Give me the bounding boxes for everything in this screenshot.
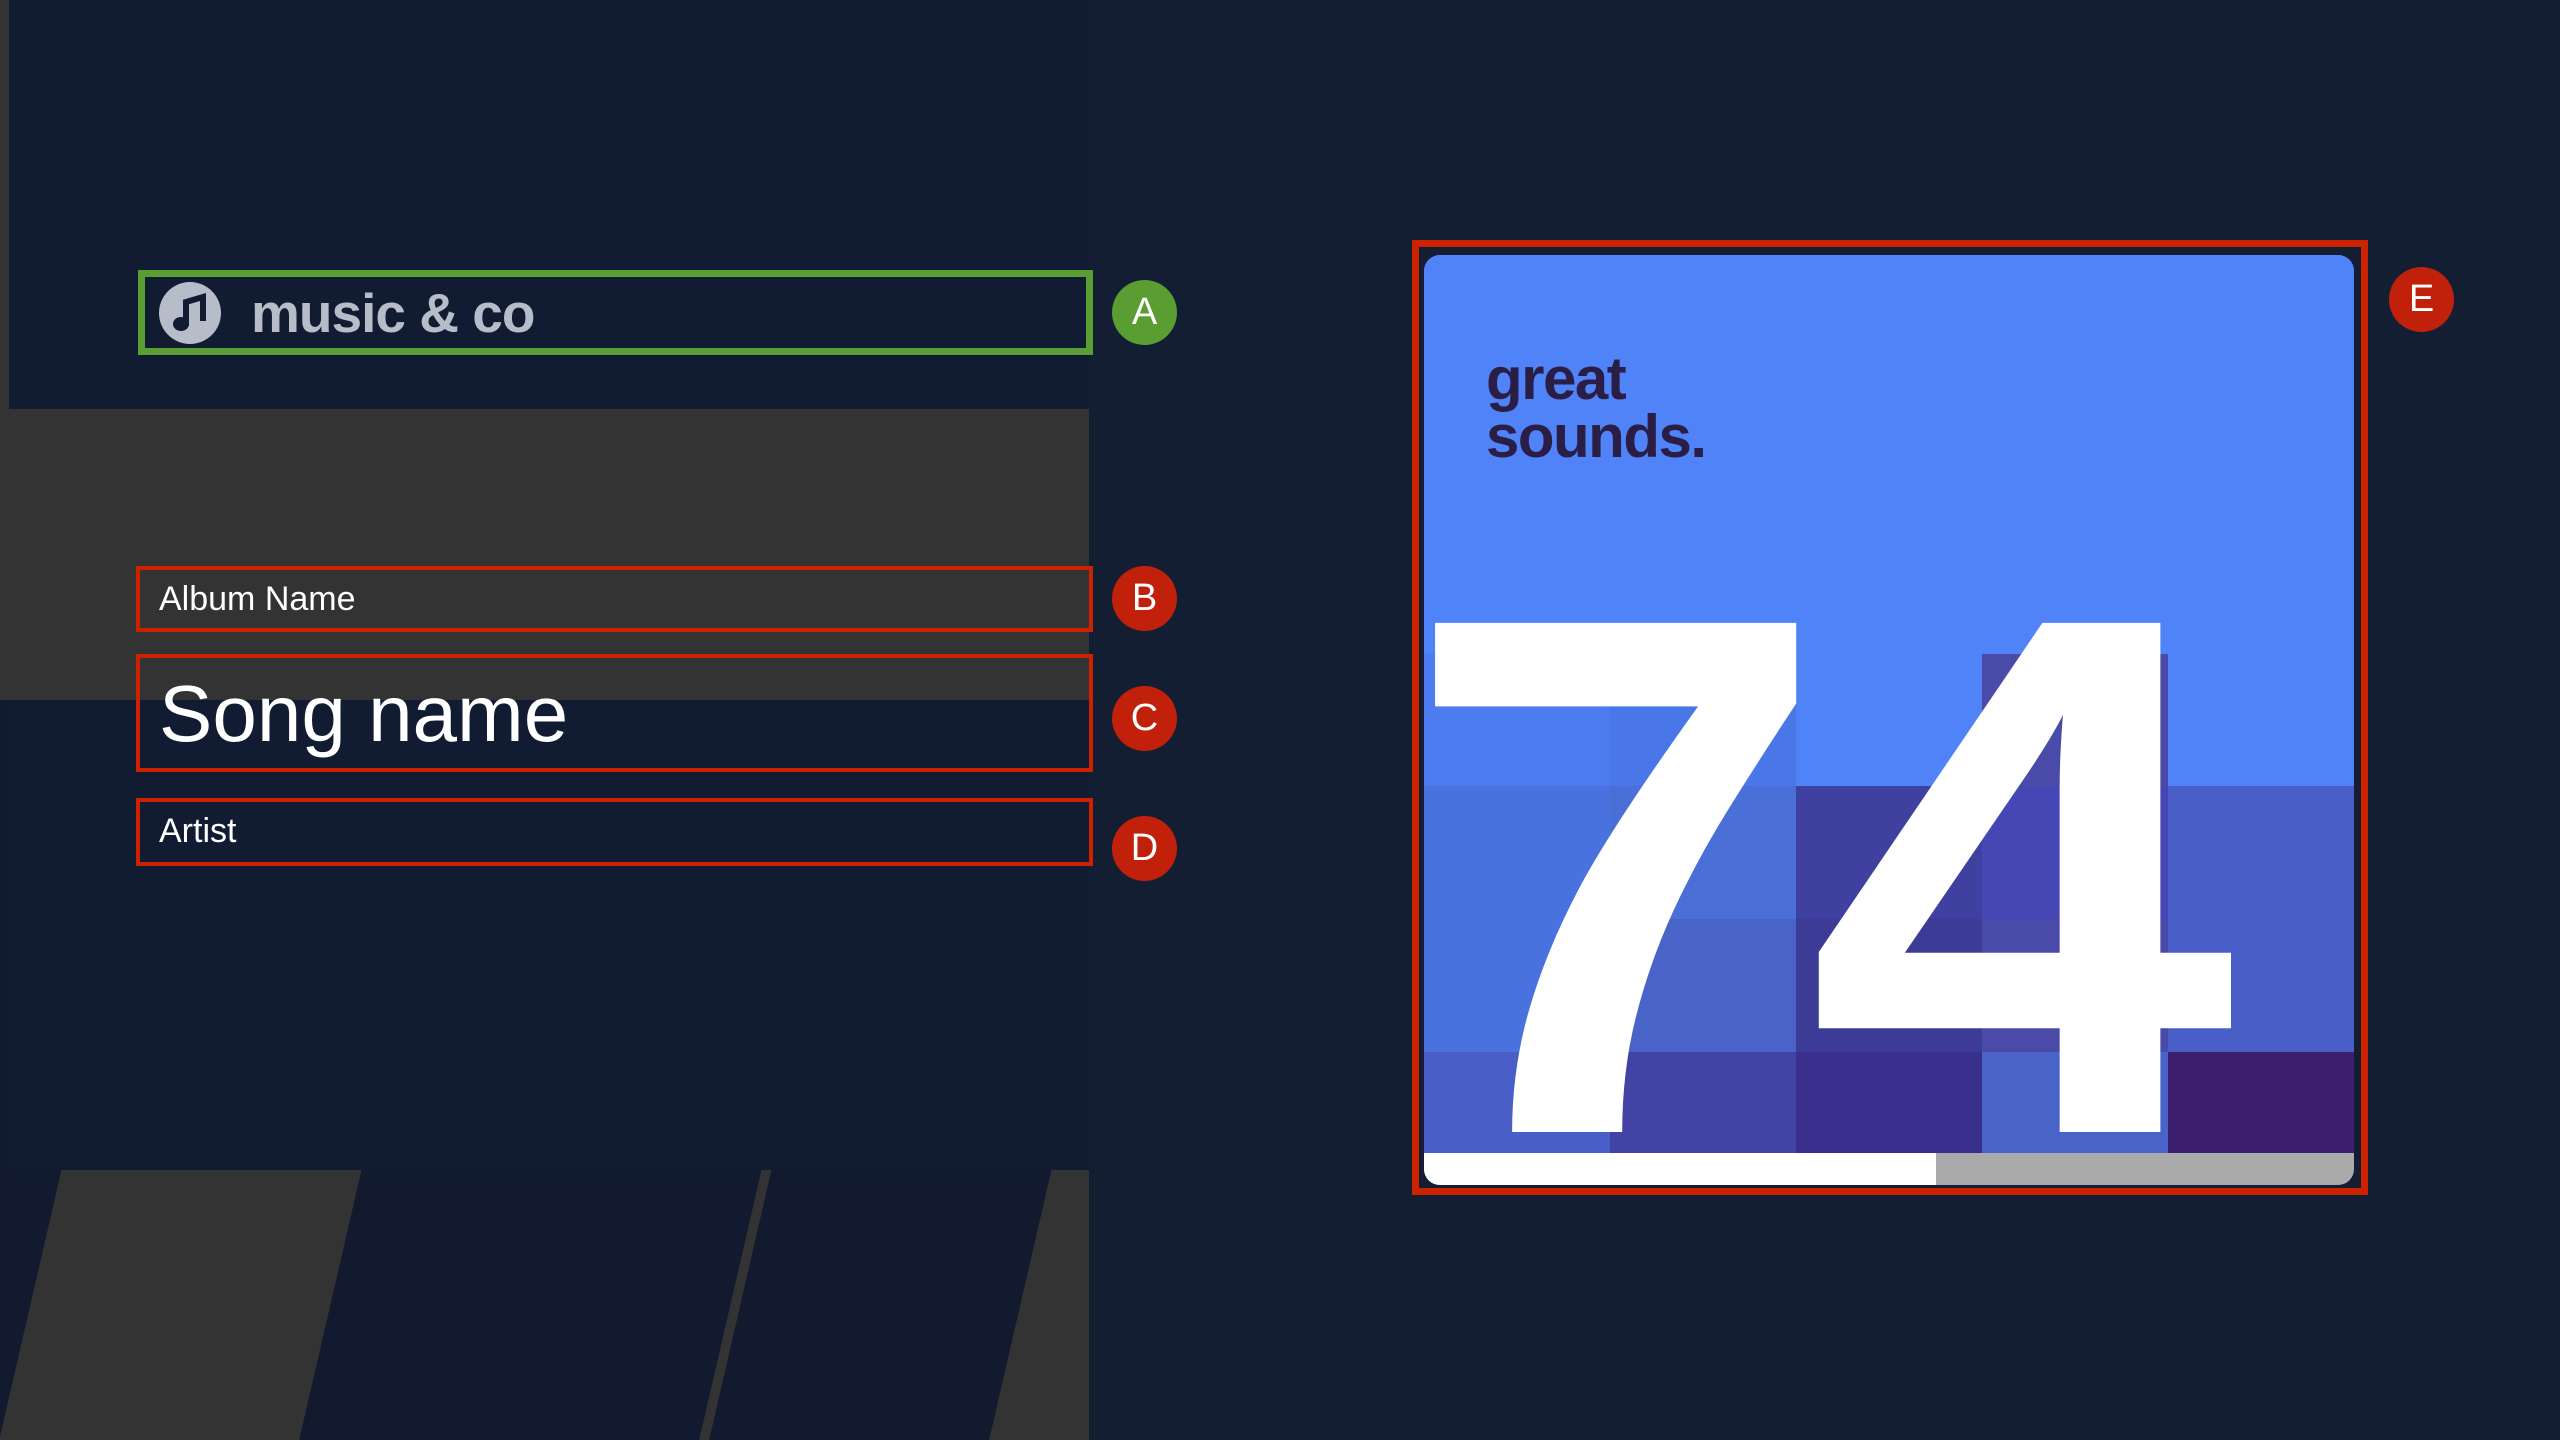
body-panel — [9, 700, 1089, 1170]
annotation-badge-e-label: E — [2409, 278, 2434, 321]
playback-progress-bar[interactable] — [1424, 1153, 2354, 1185]
annotation-badge-e: E — [2389, 267, 2454, 332]
annotation-badge-b: B — [1112, 566, 1177, 631]
annotation-badge-c: C — [1112, 686, 1177, 751]
music-note-circle-icon — [159, 282, 221, 344]
song-name-field[interactable]: Song name — [139, 658, 1091, 770]
album-art-tile — [1796, 255, 1982, 388]
annotation-badge-a-label: A — [1132, 291, 1157, 334]
album-name-field[interactable]: Album Name — [139, 568, 1091, 630]
metadata-card — [0, 409, 1089, 700]
annotation-badge-c-label: C — [1131, 697, 1158, 740]
right-panel-lower — [1089, 1215, 2560, 1440]
annotation-badge-b-label: B — [1132, 577, 1157, 620]
song-name-value: Song name — [159, 668, 568, 760]
brand-logo[interactable]: music & co — [139, 272, 1091, 354]
playback-progress-fill — [1424, 1153, 1936, 1185]
album-art-tile — [2168, 255, 2354, 388]
album-art-tile — [1982, 255, 2168, 388]
album-art-caption: great sounds. — [1486, 350, 1706, 465]
album-art-number: 74 — [1424, 573, 2212, 1180]
artist-value: Artist — [159, 812, 236, 851]
screen-root: music & co Album Name Song name Artist g… — [0, 0, 2560, 1440]
album-art[interactable]: great sounds. 74 — [1424, 255, 2354, 1185]
artist-field[interactable]: Artist — [139, 800, 1091, 862]
annotation-badge-a: A — [1112, 280, 1177, 345]
brand-name-label: music & co — [251, 286, 534, 341]
album-name-value: Album Name — [159, 580, 356, 619]
annotation-badge-d-label: D — [1131, 827, 1158, 870]
annotation-badge-d: D — [1112, 816, 1177, 881]
